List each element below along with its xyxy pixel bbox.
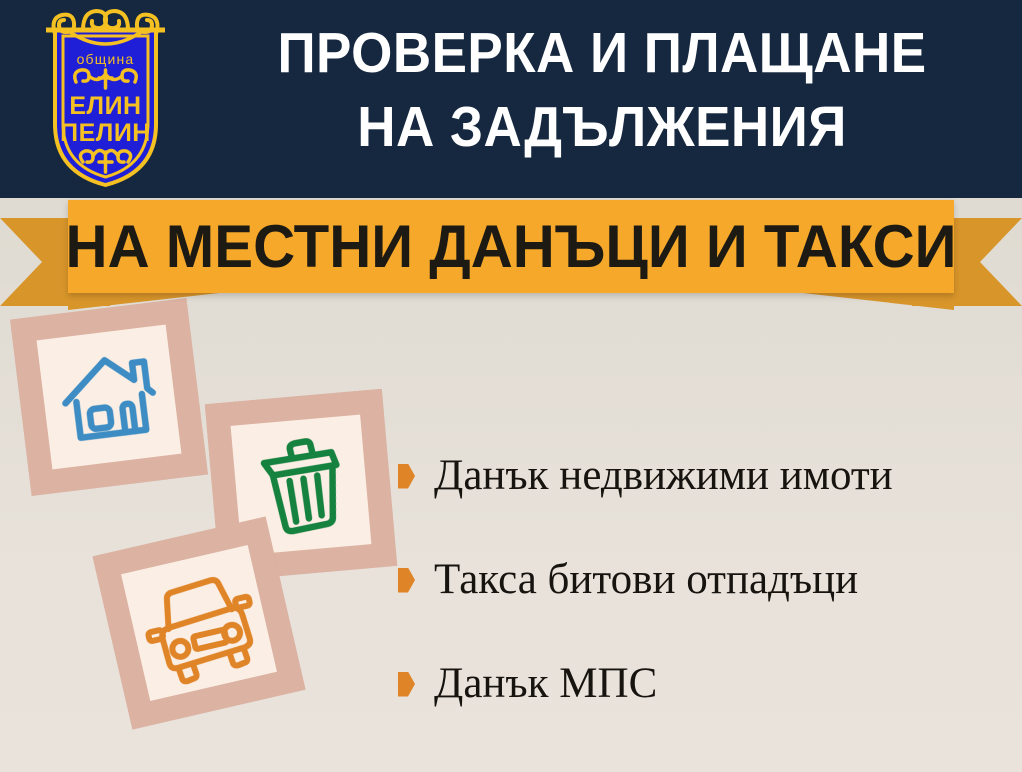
list-item[interactable]: Данък МПС	[398, 632, 1018, 736]
municipality-logo: община ЕЛИН ПЕЛИН	[28, 4, 183, 189]
ribbon-fold-left	[68, 292, 228, 310]
page-title: ПРОВЕРКА И ПЛАЩАНЕ НА ЗАДЪЛЖЕНИЯ	[224, 16, 979, 164]
list-item-label: Данък недвижими имоти	[434, 453, 893, 498]
logo-text-obshtina: община	[77, 51, 135, 67]
bullet-arrow-icon	[398, 464, 415, 489]
bullet-arrow-icon	[398, 568, 415, 593]
ribbon-banner: НА МЕСТНИ ДАНЪЦИ И ТАКСИ	[0, 196, 1022, 316]
bullet-arrow-icon	[398, 672, 415, 697]
logo-text-pelin: ПЕЛИН	[60, 119, 151, 147]
list-item[interactable]: Данък недвижими имоти	[398, 424, 1018, 528]
coat-of-arms-icon: община ЕЛИН ПЕЛИН	[28, 4, 183, 189]
list-item-label: Такса битови отпадъци	[434, 557, 858, 602]
ribbon-panel: НА МЕСТНИ ДАНЪЦИ И ТАКСИ	[68, 200, 954, 293]
stamp-scalloped-frame	[10, 298, 208, 496]
ribbon-label: НА МЕСТНИ ДАНЪЦИ И ТАКСИ	[81, 200, 940, 293]
tax-type-list: Данък недвижими имоти Такса битови отпад…	[398, 424, 1018, 736]
list-item-label: Данък МПС	[434, 661, 657, 706]
stamp-card-house	[10, 298, 208, 496]
poster-root: ПРОВЕРКА И ПЛАЩАНЕ НА ЗАДЪЛЖЕНИЯ община	[0, 0, 1022, 772]
list-item[interactable]: Такса битови отпадъци	[398, 528, 1018, 632]
ribbon-fold-right	[794, 292, 954, 310]
logo-text-elin: ЕЛИН	[69, 92, 141, 120]
